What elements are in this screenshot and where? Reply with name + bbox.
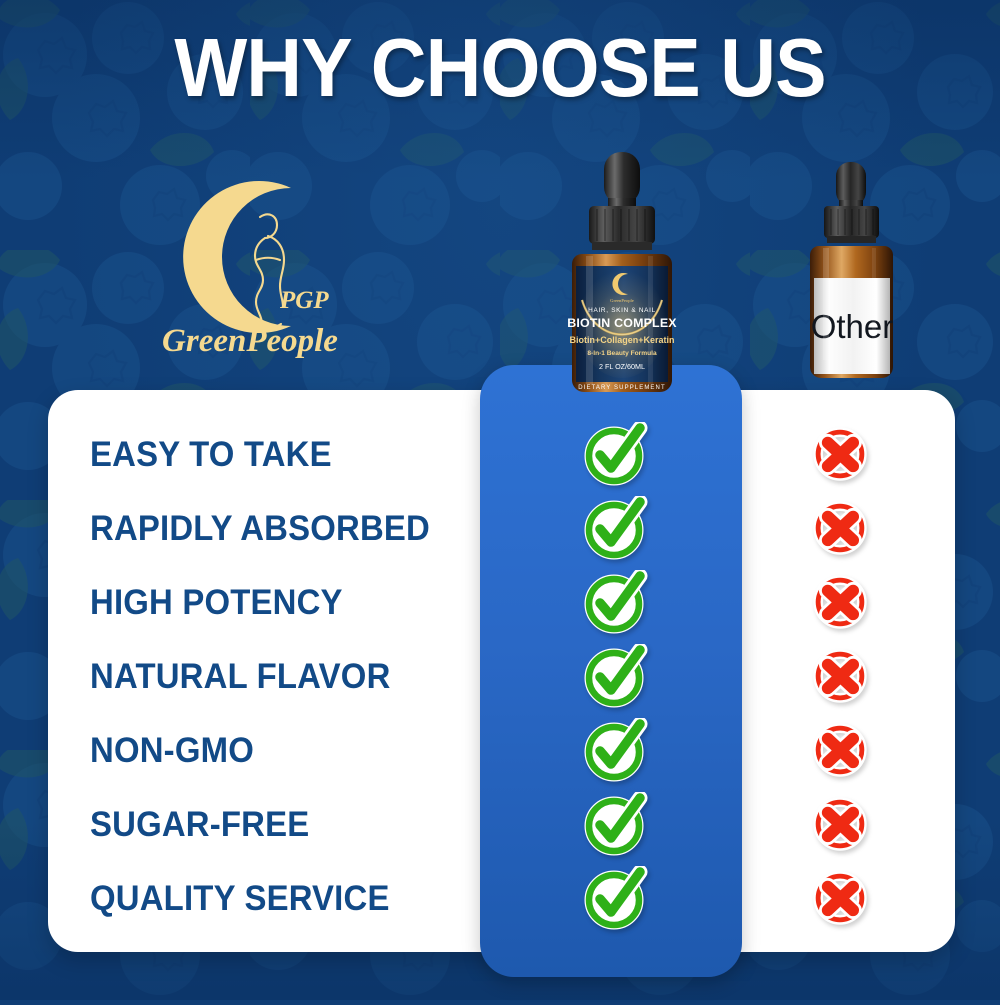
feature-label: EASY TO TAKE — [90, 437, 332, 472]
brand-logo: PGP GreenPeople — [128, 160, 378, 365]
logo-crescent-icon — [183, 181, 291, 333]
comparison-row: SUGAR-FREE — [48, 787, 955, 861]
label-category: HAIR, SKIN & NAIL — [588, 307, 656, 314]
comparison-row: NON-GMO — [48, 713, 955, 787]
comparison-row: NATURAL FLAVOR — [48, 639, 955, 713]
feature-label: QUALITY SERVICE — [90, 881, 390, 916]
dropper-bulb — [604, 152, 640, 204]
feature-label: NATURAL FLAVOR — [90, 659, 391, 694]
label-title: BIOTIN COMPLEX — [567, 316, 677, 330]
label-ingredients: Biotin+Collagen+Keratin — [569, 335, 674, 345]
comparison-row: EASY TO TAKE — [48, 417, 955, 491]
cross-circle-icon — [796, 500, 884, 556]
product-bottle-competitor: Other — [798, 160, 906, 392]
check-circle-icon — [572, 866, 660, 930]
feature-label: NON-GMO — [90, 733, 254, 768]
product-bottle-ours: GreenPeople HAIR, SKIN & NAIL BIOTIN COM… — [552, 150, 692, 395]
comparison-rows: EASY TO TAKERAPIDLY ABSORBEDHIGH POTENCY… — [48, 390, 955, 952]
logo-abbreviation: PGP — [279, 287, 329, 314]
comparison-row: QUALITY SERVICE — [48, 861, 955, 935]
label-formula: 8-In-1 Beauty Formula — [587, 350, 657, 357]
check-circle-icon — [572, 718, 660, 782]
feature-label: SUGAR-FREE — [90, 807, 309, 842]
dropper-bulb-competitor — [836, 162, 866, 206]
cross-circle-icon — [796, 870, 884, 926]
label-volume: 2 FL OZ/60ML — [599, 362, 645, 371]
feature-label: HIGH POTENCY — [90, 585, 343, 620]
check-circle-icon — [572, 422, 660, 486]
feature-label: RAPIDLY ABSORBED — [90, 511, 430, 546]
page-title: WHY CHOOSE US — [35, 26, 965, 109]
check-circle-icon — [572, 496, 660, 560]
cross-circle-icon — [796, 722, 884, 778]
svg-text:GreenPeople: GreenPeople — [610, 298, 634, 303]
check-circle-icon — [572, 644, 660, 708]
comparison-row: RAPIDLY ABSORBED — [48, 491, 955, 565]
check-circle-icon — [572, 792, 660, 856]
cross-circle-icon — [796, 426, 884, 482]
cross-circle-icon — [796, 796, 884, 852]
logo-brand-name: GreenPeople — [162, 323, 338, 359]
check-circle-icon — [572, 570, 660, 634]
cross-circle-icon — [796, 574, 884, 630]
cross-circle-icon — [796, 648, 884, 704]
label-footer: DIETARY SUPPLEMENT — [578, 385, 666, 391]
comparison-row: HIGH POTENCY — [48, 565, 955, 639]
